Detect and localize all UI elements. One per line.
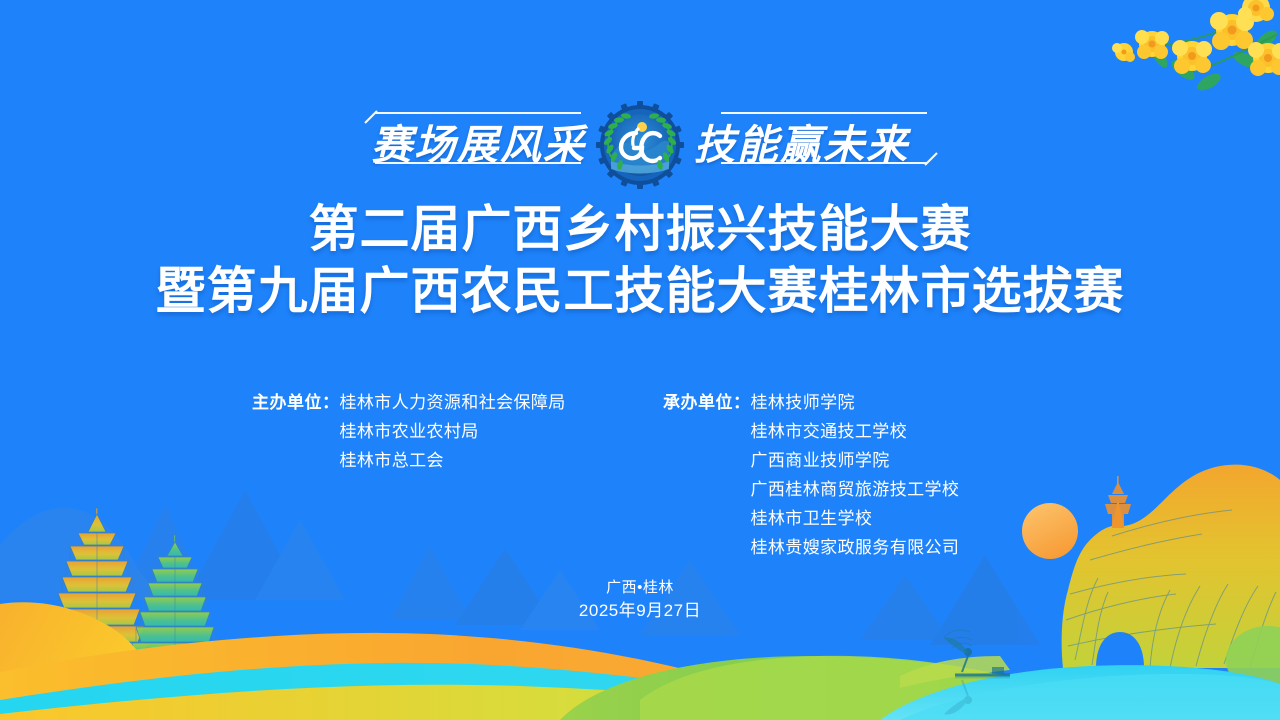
host-organizers-list: 桂林市人力资源和社会保障局 桂林市农业农村局 桂林市总工会 — [340, 388, 566, 475]
guilin-skill-competition-emblem — [594, 99, 686, 191]
co-host-organizers-label: 承办单位： — [663, 388, 751, 417]
title-line-1: 第二届广西乡村振兴技能大赛 — [0, 198, 1280, 260]
event-location: 广西•桂林 — [0, 577, 1280, 599]
co-host-organizers-list: 桂林技师学院 桂林市交通技工学校 广西商业技师学院 广西桂林商贸旅游技工学校 桂… — [751, 388, 960, 562]
slogan-left-text: 赛场展风采 — [371, 125, 586, 166]
list-item: 桂林市交通技工学校 — [751, 417, 960, 446]
page-title: 第二届广西乡村振兴技能大赛 暨第九届广西农民工技能大赛桂林市选拔赛 — [0, 198, 1280, 322]
slogan-right-text: 技能赢未来 — [694, 125, 909, 166]
list-item: 桂林市人力资源和社会保障局 — [340, 388, 566, 417]
list-item: 桂林市总工会 — [340, 446, 566, 475]
list-item: 桂林市卫生学校 — [751, 504, 960, 533]
list-item: 桂林技师学院 — [751, 388, 960, 417]
poster-canvas: 赛场展风采 — [0, 0, 1280, 720]
event-footer: 广西•桂林 2025年9月27日 — [0, 577, 1280, 623]
list-item: 广西桂林商贸旅游技工学校 — [751, 475, 960, 504]
title-line-2: 暨第九届广西农民工技能大赛桂林市选拔赛 — [0, 260, 1280, 322]
organizers-section: 主办单位： 桂林市人力资源和社会保障局 桂林市农业农村局 桂林市总工会 承办单位… — [0, 388, 1280, 562]
slogan-band: 赛场展风采 — [0, 106, 1280, 184]
list-item: 桂林市农业农村局 — [340, 417, 566, 446]
host-organizers: 主办单位： 桂林市人力资源和社会保障局 桂林市农业农村局 桂林市总工会 — [252, 388, 617, 475]
list-item: 广西商业技师学院 — [751, 446, 960, 475]
host-organizers-label: 主办单位： — [252, 388, 340, 417]
list-item: 桂林贵嫂家政服务有限公司 — [751, 533, 960, 562]
event-date: 2025年9月27日 — [0, 599, 1280, 623]
co-host-organizers: 承办单位： 桂林技师学院 桂林市交通技工学校 广西商业技师学院 广西桂林商贸旅游… — [663, 388, 1028, 562]
